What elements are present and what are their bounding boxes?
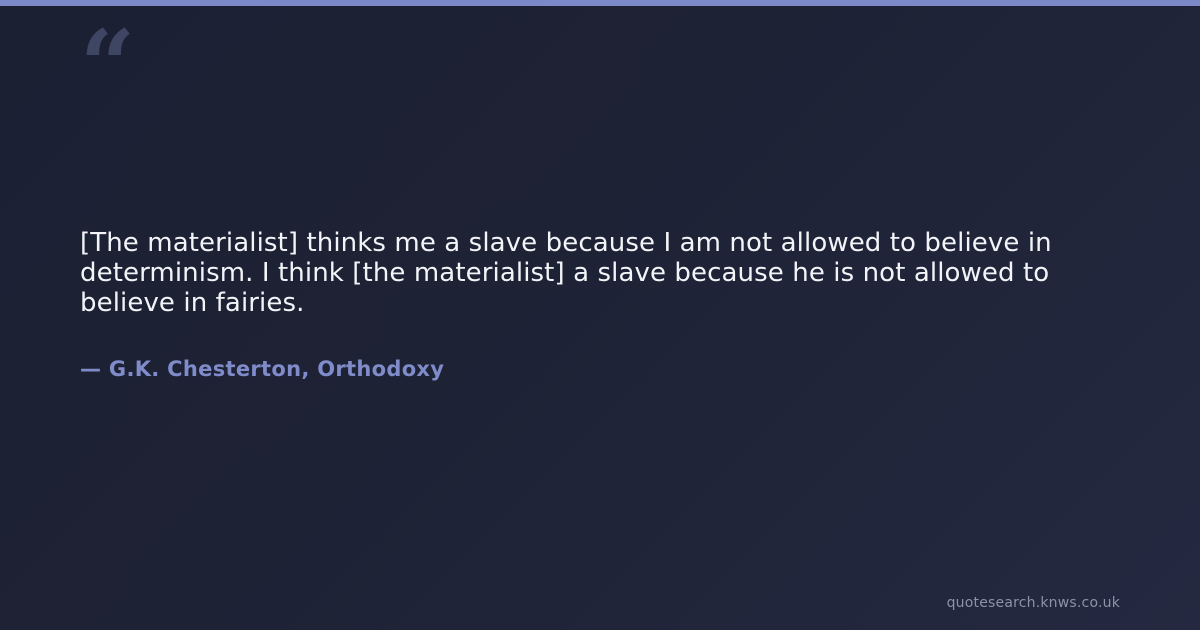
top-accent-bar (0, 0, 1200, 6)
left-double-quotation-mark-icon: “ (80, 18, 133, 114)
quote-attribution: — G.K. Chesterton, Orthodoxy (80, 318, 1080, 382)
quote-card: “ [The materialist] thinks me a slave be… (0, 0, 1200, 630)
quote-content: [The materialist] thinks me a slave beca… (80, 228, 1080, 382)
quote-text: [The materialist] thinks me a slave beca… (80, 228, 1080, 318)
footer-site-url: quotesearch.knws.co.uk (947, 594, 1120, 612)
